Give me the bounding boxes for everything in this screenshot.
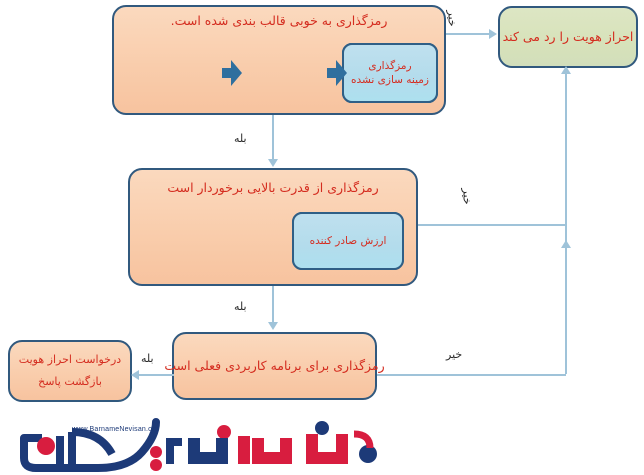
edge-bottom-to-left — [138, 374, 174, 376]
middle-subbox-row: تائید امضاء ارزش صادر کننده — [142, 210, 404, 272]
node-left-result-line2: بازگشت پاسخ — [38, 374, 102, 390]
subnode-encryption-not-contextualized[interactable]: رمزگذاری زمینه سازی نشده — [342, 43, 438, 103]
flowchart-canvas: رمزگذاری به خوبی قالب بندی شده است. فرمت… — [0, 0, 644, 475]
edge-label-no-middle: خیر — [461, 188, 474, 204]
node-left-result-line1: درخواست احراز هویت — [19, 352, 121, 368]
node-auth-request-return-response[interactable]: درخواست احراز هویت بازگشت پاسخ — [8, 340, 132, 402]
node-title-top: رمزگذاری به خوبی قالب بندی شده است. — [171, 13, 388, 29]
edge-label-no-bottom: خیر — [446, 348, 462, 361]
watermark-logo: www.BarnameNevisan.org — [6, 418, 398, 472]
subnode-issuer-value[interactable]: ارزش صادر کننده — [292, 212, 404, 270]
chevron-arrow-2 — [327, 60, 347, 86]
edge-middle-to-bottom — [272, 286, 274, 324]
arrowhead-bottom-to-left — [131, 370, 139, 380]
arrowhead-top-to-middle — [268, 159, 278, 167]
subnode-encryption-line2: زمینه سازی نشده — [347, 73, 433, 87]
arrowhead-top-to-reject — [489, 29, 497, 39]
top-subbox-row: فرمت فعلی با توجه به فرمت مشخص رمز دریاف… — [120, 41, 438, 105]
arrowhead-middle-to-bottom — [268, 322, 278, 330]
edge-top-to-middle — [272, 115, 274, 161]
edge-label-no-top: خیر — [446, 10, 459, 26]
node-reject-authentication[interactable]: احراز هویت را رد می کند — [498, 6, 638, 68]
edge-label-yes-top-to-middle: بله — [234, 132, 247, 145]
edge-middle-to-rail — [418, 224, 566, 226]
edge-label-yes-middle-to-bottom: بله — [234, 300, 247, 313]
edge-bottom-to-rail — [377, 374, 566, 376]
node-title-middle: رمزگذاری از قدرت بالایی برخوردار است — [167, 180, 378, 196]
subnode-encryption-line1: رمزگذاری — [364, 59, 415, 73]
node-title-bottom: رمزگذاری برای برنامه کاربردی فعلی است — [164, 358, 384, 374]
subnode-issuer-value-label: ارزش صادر کننده — [306, 234, 391, 248]
edge-label-yes-bottom-to-left: بله — [141, 352, 154, 365]
right-rail-vertical — [565, 68, 567, 374]
barnamenevisan-logo-icon — [6, 418, 398, 472]
edge-top-to-reject — [446, 33, 490, 35]
watermark-url-text: www.BarnameNevisan.org — [72, 426, 159, 433]
node-title-reject: احراز هویت را رد می کند — [503, 29, 634, 45]
chevron-arrow-1 — [222, 60, 242, 86]
arrowhead-rail-merge-middle — [561, 240, 571, 248]
node-encryption-for-current-app[interactable]: رمزگذاری برای برنامه کاربردی فعلی است — [172, 332, 377, 400]
arrowhead-rail-to-reject — [561, 66, 571, 74]
